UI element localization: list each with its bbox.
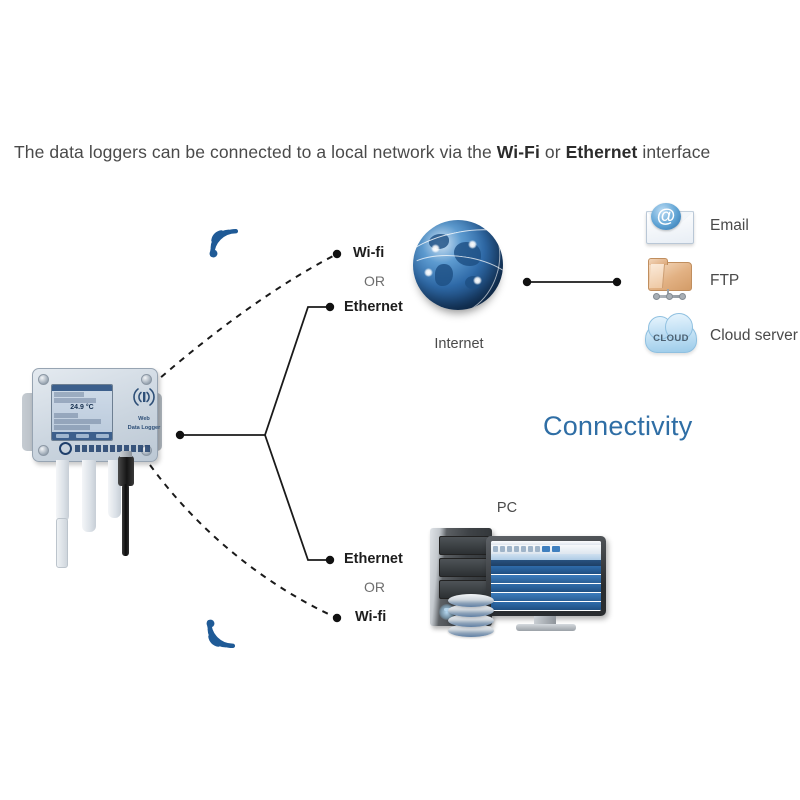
cloud-icon: CLOUD [642,315,696,357]
connectivity-title: Connectivity [543,411,692,442]
internet-caption: Internet [424,336,494,352]
monitor-screen [491,541,601,611]
pc-monitor [486,536,606,616]
database-cylinder-icon [448,594,494,638]
antenna-icon [128,385,160,409]
lcd-temperature-value: 24.9 °C [52,404,112,412]
dashed-arc-top [152,254,337,385]
device-badge-line-2: Data Logger [121,425,167,432]
web-data-logger-device: 24.9 °C Web Data Logger [14,360,174,565]
label-bottom-or: OR [364,579,385,595]
dashed-arc-bottom [150,465,337,618]
solid-branch-up [265,307,330,435]
endpoint-dot [613,278,621,286]
endpoint-dot [326,556,334,564]
device-enclosure: 24.9 °C Web Data Logger [32,368,158,462]
endpoint-dot [326,303,334,311]
device-wireless-badge: Web Data Logger [121,385,167,432]
label-top-wifi: Wi-fi [353,245,384,261]
device-cable-connector [118,456,134,486]
endpoint-dot [333,250,341,258]
label-top-or: OR [364,273,385,289]
device-brand-logo [59,443,151,454]
ftp-folder-icon [642,260,696,302]
wifi-signal-icon [203,222,245,269]
label-top-ethernet: Ethernet [344,299,403,315]
email-envelope-icon: @ [642,205,696,247]
device-lcd-screen: 24.9 °C [51,384,113,441]
solid-branch-down [265,435,330,560]
at-symbol: @ [651,203,681,230]
device-cable [122,484,129,556]
cloud-icon-text: CLOUD [653,333,689,344]
endpoint-dot [176,431,184,439]
pc-caption: PC [487,500,527,516]
globe-icon [413,220,503,310]
wifi-signal-icon [200,608,242,655]
diagram-canvas: The data loggers can be connected to a l… [0,0,800,800]
service-label-cloud-server: Cloud server [710,327,798,345]
endpoint-dot [523,278,531,286]
endpoint-dot [333,614,341,622]
device-badge-line-1: Web [121,416,167,423]
desktop-computer-icon [430,520,610,635]
label-bottom-wifi: Wi-fi [355,609,386,625]
service-label-ftp: FTP [710,272,739,290]
label-bottom-ethernet: Ethernet [344,551,403,567]
service-label-email: Email [710,217,749,235]
globe-sphere [413,220,503,310]
